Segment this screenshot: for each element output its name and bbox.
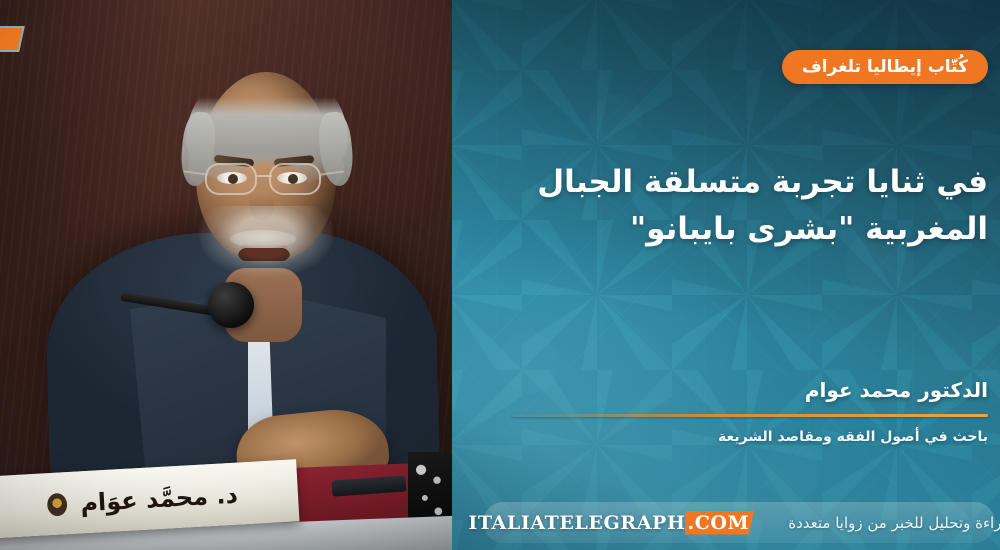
category-badge[interactable]: كُتّاب إيطاليا تلغراف xyxy=(782,50,988,84)
footer-bar: قراءة وتحليل للخبر من زوايا متعددة ITALI… xyxy=(483,502,995,543)
subject-mustache xyxy=(230,230,296,248)
eyeglasses-lens-right xyxy=(269,163,321,195)
brand-tld-tag: .COM xyxy=(685,511,755,535)
author-block: الدكتور محمد عوام باحث في أصول الفقه ومق… xyxy=(512,378,988,445)
brand-logo[interactable]: ITALIATELEGRAPH .COM xyxy=(468,511,754,535)
article-headline: في ثنايا تجربة متسلقة الجبال المغربية "ب… xyxy=(492,159,988,253)
info-panel: كُتّاب إيطاليا تلغراف في ثنايا تجربة متس… xyxy=(452,0,1000,550)
nameplate-emblem-icon xyxy=(44,488,72,519)
speaker-photo: د. محمَّد عوَام OM xyxy=(0,0,452,550)
microphone-head xyxy=(208,282,254,328)
eyeglasses-bridge xyxy=(256,175,272,177)
author-role: باحث في أصول الفقه ومقاصد الشريعة xyxy=(512,429,988,445)
author-name: الدكتور محمد عوام xyxy=(512,378,988,402)
footer-tagline: قراءة وتحليل للخبر من زوايا متعددة xyxy=(788,514,1000,532)
author-divider-rule xyxy=(512,414,988,417)
nameplate-text: د. محمَّد عوَام xyxy=(80,480,239,517)
article-card: د. محمَّد عوَام OM كُتّاب إيطاليا تلغراف… xyxy=(0,0,1000,550)
brand-name-text: ITALIATELEGRAPH xyxy=(468,512,685,534)
